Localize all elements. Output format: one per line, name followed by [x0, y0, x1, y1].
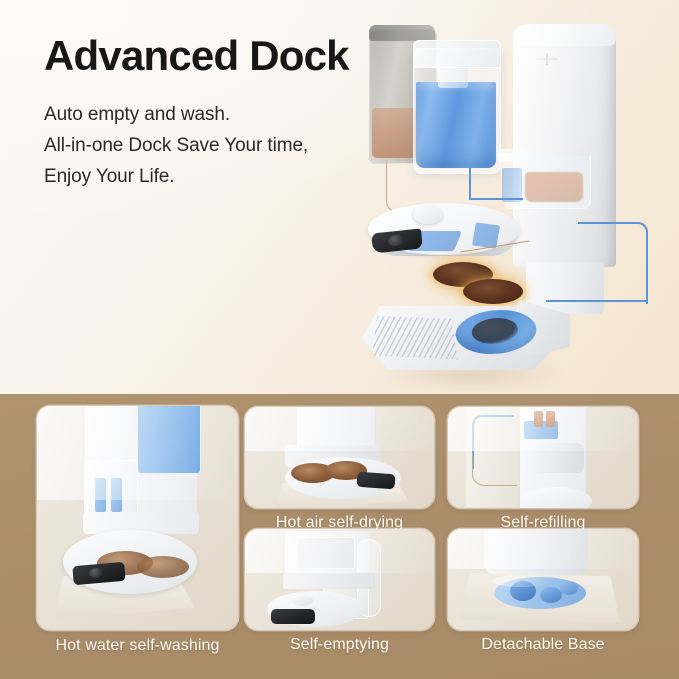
lidar-turret: [413, 206, 443, 224]
caption-self-emptying: Self-emptying: [245, 636, 434, 654]
water-droplet-b: [540, 587, 562, 603]
feature-card-hot-air-self-drying[interactable]: [245, 407, 434, 508]
return-tube-lower: [546, 300, 646, 302]
feature-card-detachable-base[interactable]: [448, 529, 638, 630]
dust-bin-debris: [525, 172, 583, 202]
dust-bin-filter: [502, 168, 522, 202]
card-gloss: [245, 529, 434, 573]
card-gloss: [448, 407, 638, 451]
drain-hose: [472, 453, 517, 486]
robot-vacuum-body: [520, 487, 592, 508]
robot-sensor-bumper: [271, 609, 315, 624]
clean-water-fill: [416, 82, 496, 168]
return-tube-upper: [578, 222, 648, 304]
robot-sensor-bumper: [357, 472, 396, 490]
water-droplet-c: [560, 581, 578, 595]
card-gloss: [448, 529, 638, 569]
hero-panel: Advanced Dock Auto empty and wash. All-i…: [0, 0, 679, 394]
base-vent-grille: [372, 316, 458, 362]
feature-card-hot-water-self-washing[interactable]: [37, 406, 238, 630]
dirty-mop-pad-b: [137, 556, 189, 578]
card-gloss: [245, 407, 434, 451]
brand-logo-icon: [536, 53, 558, 65]
feature-card-self-emptying[interactable]: [245, 529, 434, 630]
water-tube-horizontal: [469, 198, 523, 200]
dock-tower-top: [513, 24, 616, 46]
product-feature-page: Advanced Dock Auto empty and wash. All-i…: [0, 0, 679, 679]
card-gloss: [37, 406, 238, 500]
dirty-water-tank-lid: [369, 25, 435, 41]
caption-detachable-base: Detachable Base: [448, 636, 638, 654]
dust-bin-lid: [498, 149, 589, 161]
dock-shelf: [283, 573, 375, 589]
mop-pad-b: [463, 279, 523, 304]
lidar-turret: [291, 595, 313, 606]
water-highlight: [492, 575, 552, 587]
exploded-product-render: [350, 0, 679, 394]
water-tube-vertical: [469, 168, 471, 200]
clean-water-tank-cap: [413, 40, 501, 68]
caption-hot-water-self-washing: Hot water self-washing: [37, 637, 238, 655]
feature-gallery: Hot water self-washing Hot air self-dryi…: [0, 394, 679, 679]
feature-card-self-refilling[interactable]: [448, 407, 638, 508]
